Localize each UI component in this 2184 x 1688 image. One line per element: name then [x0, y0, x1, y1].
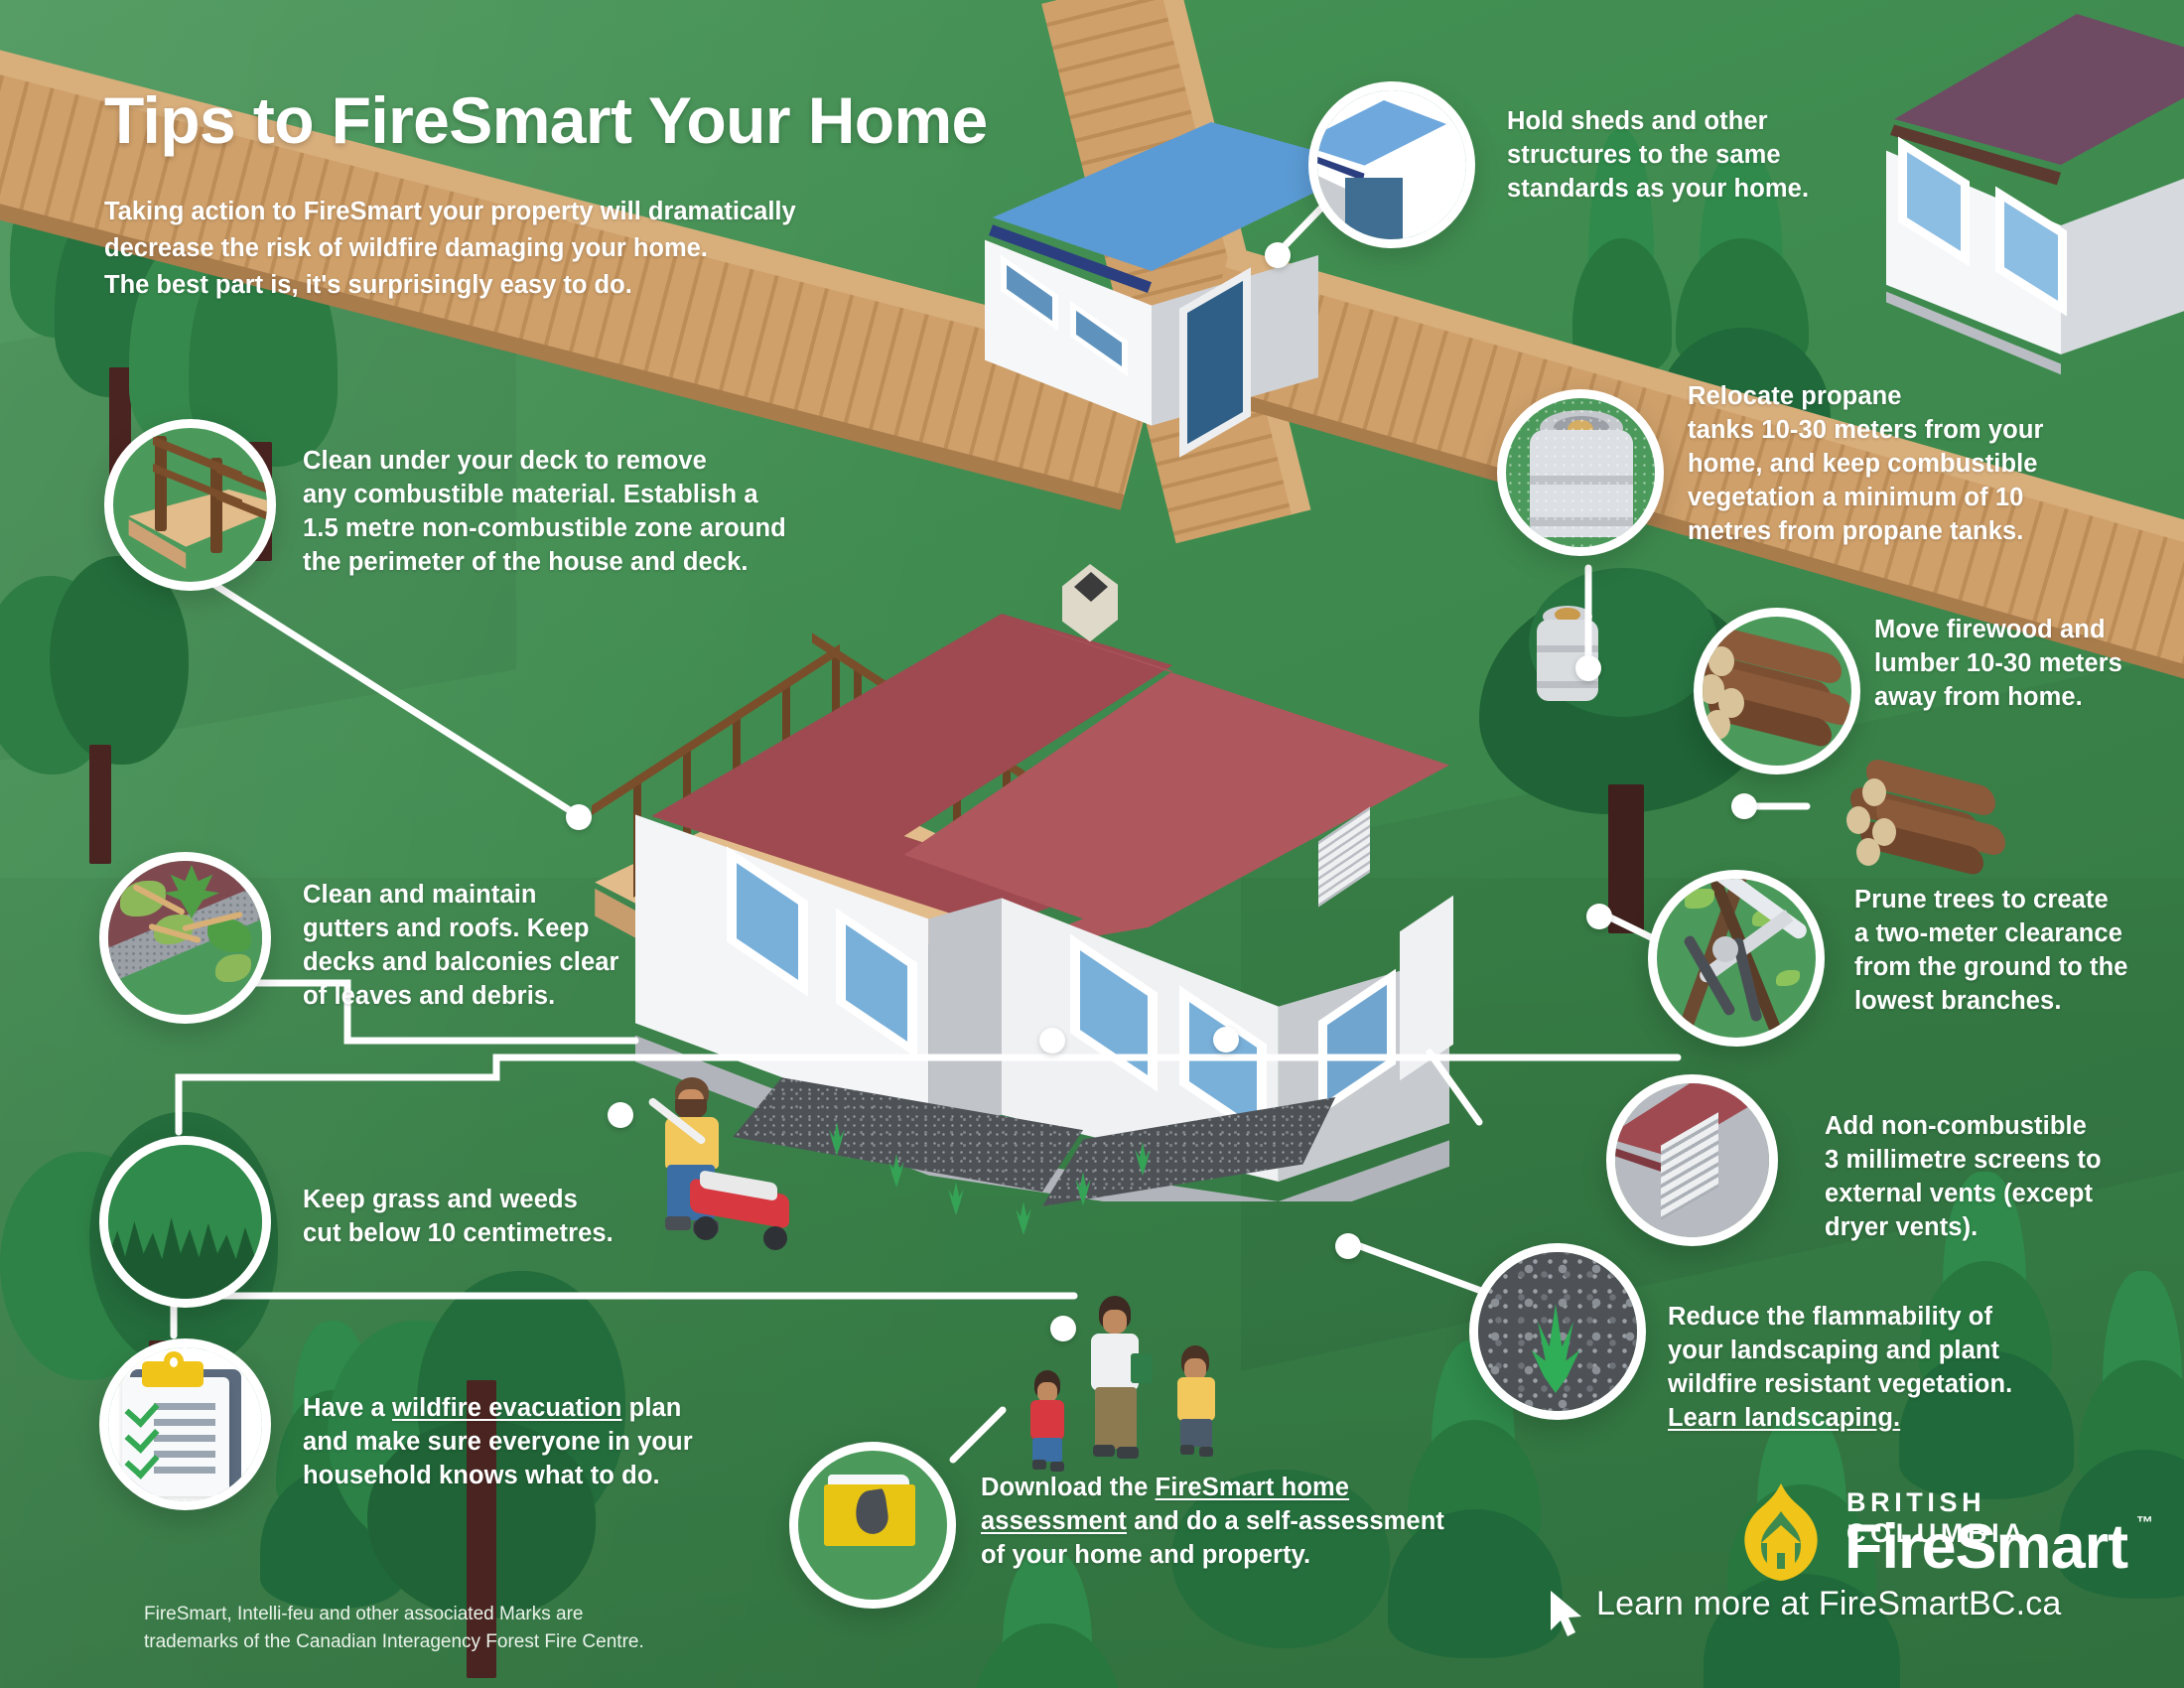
- tip-text-landscaping: Reduce the flammability of your landscap…: [1668, 1301, 2085, 1436]
- tip-line: assessment and do a self-assessment: [981, 1505, 1497, 1539]
- tip-line: dryer vents).: [1825, 1211, 2172, 1245]
- tip-text-deck: Clean under your deck to remove any comb…: [303, 445, 859, 580]
- intro-text: Taking action to FireSmart your property…: [104, 194, 859, 304]
- callout-landscaping[interactable]: [1469, 1243, 1646, 1420]
- tip-line: Prune trees to create: [1854, 884, 2184, 917]
- tip-line: Have a wildfire evacuation plan: [303, 1392, 779, 1426]
- firewood-prop: [1827, 765, 2015, 874]
- firesmart-assessment-link[interactable]: FireSmart home: [1156, 1474, 1350, 1501]
- tip-line-prefix: Have a: [303, 1394, 392, 1422]
- callout-propane[interactable]: [1497, 389, 1664, 556]
- callout-sheds[interactable]: [1308, 81, 1475, 248]
- tip-text-gutters: Clean and maintain gutters and roofs. Ke…: [303, 879, 700, 1014]
- tip-line: decks and balconies clear: [303, 946, 700, 980]
- tip-line: 1.5 metre non-combustible zone around: [303, 512, 859, 546]
- callout-evacuation[interactable]: [99, 1338, 271, 1510]
- tip-line: Clean under your deck to remove: [303, 445, 859, 479]
- tip-line: structures to the same: [1507, 139, 1924, 173]
- tip-line: household knows what to do.: [303, 1460, 779, 1493]
- tip-line: wildfire resistant vegetation.: [1668, 1368, 2085, 1402]
- anchor-dot: [1335, 1233, 1361, 1259]
- tip-line: away from home.: [1874, 681, 2184, 715]
- tip-line: your landscaping and plant: [1668, 1335, 2085, 1368]
- tip-line: home, and keep combustible: [1688, 448, 2115, 482]
- logo-brand: FireSmart: [1844, 1511, 2127, 1583]
- tip-line: the perimeter of the house and deck.: [303, 546, 859, 580]
- tip-line: Keep grass and weeds: [303, 1184, 700, 1217]
- tip-line: Relocate propane: [1688, 380, 2115, 414]
- mouse-pointer-icon: [1545, 1587, 1588, 1642]
- flame-house-icon: [1735, 1481, 1827, 1585]
- legal-line: trademarks of the Canadian Interagency F…: [144, 1628, 779, 1656]
- firesmart-assessment-link-2[interactable]: assessment: [981, 1507, 1127, 1535]
- logo-trademark: ™: [2136, 1513, 2153, 1533]
- callout-deck[interactable]: [104, 419, 276, 591]
- learn-more-text[interactable]: Learn more at FireSmartBC.ca: [1596, 1585, 2062, 1623]
- tip-line: a two-meter clearance: [1854, 917, 2184, 951]
- tip-line: Move firewood and: [1874, 614, 2184, 647]
- callout-assessment[interactable]: [789, 1442, 956, 1609]
- tip-line-suffix: and do a self-assessment: [1127, 1507, 1444, 1535]
- callout-firewood[interactable]: [1694, 608, 1860, 774]
- intro-line-1: Taking action to FireSmart your property…: [104, 194, 859, 230]
- legal-text: FireSmart, Intelli-feu and other associa…: [144, 1601, 779, 1655]
- anchor-dot: [1731, 793, 1757, 819]
- anchor-dot: [1575, 655, 1601, 681]
- tip-text-firewood: Move firewood and lumber 10-30 meters aw…: [1874, 614, 2184, 715]
- callout-prune[interactable]: [1648, 870, 1825, 1047]
- callout-vents[interactable]: [1606, 1074, 1778, 1246]
- anchor-dot: [566, 804, 592, 830]
- tip-line: Clean and maintain: [303, 879, 700, 913]
- tip-text-propane: Relocate propane tanks 10-30 meters from…: [1688, 380, 2115, 549]
- tip-line: lowest branches.: [1854, 985, 2184, 1019]
- tip-text-evacuation: Have a wildfire evacuation plan and make…: [303, 1392, 779, 1493]
- tip-line: of your home and property.: [981, 1539, 1497, 1573]
- tip-line: Reduce the flammability of: [1668, 1301, 2085, 1335]
- tip-line: of leaves and debris.: [303, 980, 700, 1014]
- page-title: Tips to FireSmart Your Home: [104, 87, 988, 153]
- firesmart-logo[interactable]: BRITISH COLUMBIA FireSmart ™: [1735, 1479, 2172, 1599]
- callout-grass[interactable]: [99, 1136, 271, 1308]
- wildfire-evacuation-link[interactable]: wildfire evacuation: [392, 1394, 621, 1422]
- tip-line: external vents (except: [1825, 1178, 2172, 1211]
- person-child: [1169, 1345, 1235, 1465]
- callout-gutters[interactable]: [99, 852, 271, 1024]
- tip-line: Add non-combustible: [1825, 1110, 2172, 1144]
- tip-line: vegetation a minimum of 10: [1688, 482, 2115, 515]
- tip-text-vents: Add non-combustible 3 millimetre screens…: [1825, 1110, 2172, 1245]
- person-adult: [1077, 1296, 1166, 1465]
- tip-text-grass: Keep grass and weeds cut below 10 centim…: [303, 1184, 700, 1251]
- tip-line: 3 millimetre screens to: [1825, 1144, 2172, 1178]
- infographic-canvas: Tips to FireSmart Your Home Taking actio…: [0, 0, 2184, 1688]
- tip-line: any combustible material. Establish a: [303, 479, 859, 512]
- tip-line: cut below 10 centimetres.: [303, 1217, 700, 1251]
- tip-line: tanks 10-30 meters from your: [1688, 414, 2115, 448]
- tip-line: lumber 10-30 meters: [1874, 647, 2184, 681]
- tip-text-sheds: Hold sheds and other structures to the s…: [1507, 105, 1924, 207]
- legal-line: FireSmart, Intelli-feu and other associa…: [144, 1601, 779, 1628]
- anchor-dot: [1050, 1316, 1076, 1341]
- tip-line: and make sure everyone in your: [303, 1426, 779, 1460]
- tree-decor: [0, 556, 208, 884]
- anchor-dot: [1213, 1027, 1239, 1053]
- anchor-dot: [1265, 242, 1291, 268]
- tip-line-suffix: plan: [621, 1394, 681, 1422]
- tip-line: Download the FireSmart home: [981, 1472, 1497, 1505]
- lawn-mower-icon: [690, 1147, 809, 1236]
- tip-line: gutters and roofs. Keep: [303, 913, 700, 946]
- intro-line-3: The best part is, it's surprisingly easy…: [104, 267, 859, 304]
- person-child: [1023, 1370, 1082, 1479]
- learn-landscaping-link-label: Learn landscaping.: [1668, 1404, 1900, 1432]
- anchor-dot: [1586, 904, 1612, 929]
- tip-line-prefix: Download the: [981, 1474, 1156, 1501]
- tip-line: standards as your home.: [1507, 173, 1924, 207]
- tip-line: Hold sheds and other: [1507, 105, 1924, 139]
- anchor-dot: [608, 1102, 633, 1128]
- tip-text-assessment: Download the FireSmart home assessment a…: [981, 1472, 1497, 1573]
- intro-line-2: decrease the risk of wildfire damaging y…: [104, 230, 859, 267]
- learn-landscaping-link[interactable]: Learn landscaping.: [1668, 1402, 2085, 1436]
- anchor-dot: [1039, 1028, 1065, 1054]
- tip-text-prune: Prune trees to create a two-meter cleara…: [1854, 884, 2184, 1019]
- tip-line: from the ground to the: [1854, 951, 2184, 985]
- tip-line: metres from propane tanks.: [1688, 515, 2115, 549]
